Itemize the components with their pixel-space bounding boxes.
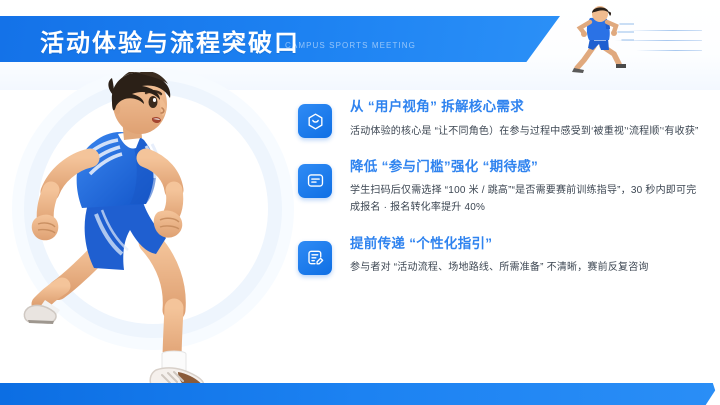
content-block-title: 降低 “参与门槛”强化 “期待感” [350, 158, 706, 176]
content-block-text: 提前传递 “个性化指引” 参与者对 “活动流程、场地路线、所需准备” 不清晰，赛… [350, 235, 706, 277]
hexagon-chevron-icon [298, 104, 332, 138]
footer-band [0, 383, 720, 405]
content-block: 提前传递 “个性化指引” 参与者对 “活动流程、场地路线、所需准备” 不清晰，赛… [298, 235, 706, 277]
content-block-text: 降低 “参与门槛”强化 “期待感” 学生扫码后仅需选择 “100 米 / 跳高”… [350, 158, 706, 217]
content-block-list: 从 “用户视角” 拆解核心需求 活动体验的核心是 “让不同角色）在参与过程中感受… [298, 98, 706, 276]
document-edit-icon [298, 241, 332, 275]
corner-runner-illustration [564, 2, 634, 78]
slide-canvas: 活动体验与流程突破口 CAMPUS SPORTS MEETING [0, 0, 720, 405]
content-block: 从 “用户视角” 拆解核心需求 活动体验的核心是 “让不同角色）在参与过程中感受… [298, 98, 706, 140]
page-title: 活动体验与流程突破口 [40, 23, 300, 58]
content-block-body: 参与者对 “活动流程、场地路线、所需准备” 不清晰，赛前反复咨询 [350, 259, 706, 276]
content-block-body: 学生扫码后仅需选择 “100 米 / 跳高”“是否需要赛前训练指导”，30 秒内… [350, 182, 706, 216]
content-block: 降低 “参与门槛”强化 “期待感” 学生扫码后仅需选择 “100 米 / 跳高”… [298, 158, 706, 217]
content-block-body: 活动体验的核心是 “让不同角色）在参与过程中感受到‘被重视’‘流程顺’‘有收获” [350, 123, 706, 140]
main-runner-illustration [10, 72, 300, 392]
message-form-icon [298, 164, 332, 198]
page-subtitle: CAMPUS SPORTS MEETING [285, 41, 416, 50]
content-block-text: 从 “用户视角” 拆解核心需求 活动体验的核心是 “让不同角色）在参与过程中感受… [350, 98, 706, 140]
content-block-title: 从 “用户视角” 拆解核心需求 [350, 98, 706, 116]
content-block-title: 提前传递 “个性化指引” [350, 235, 706, 253]
